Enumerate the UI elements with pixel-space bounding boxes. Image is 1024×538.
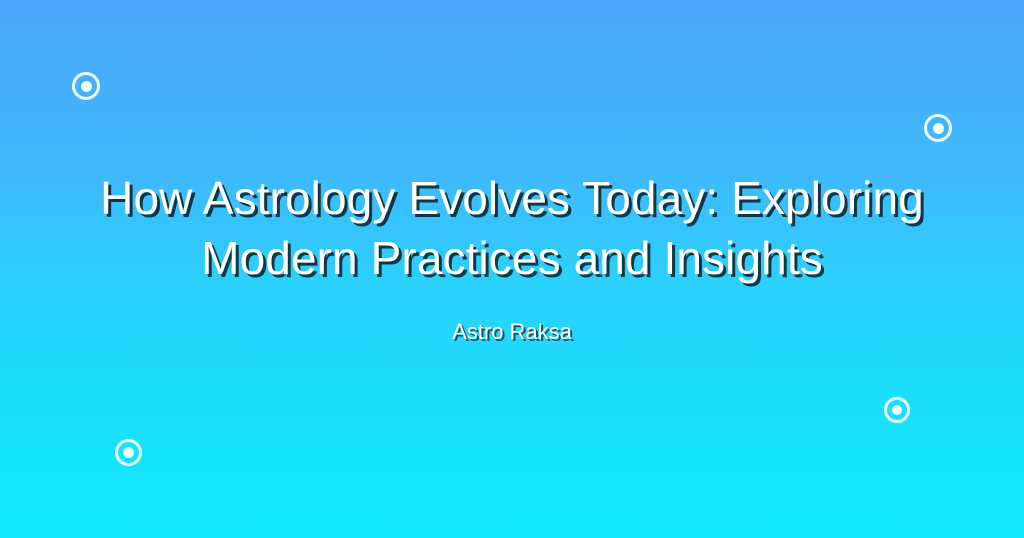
target-ring-icon-bottom-left — [115, 439, 142, 466]
ring-center-dot — [123, 447, 134, 458]
slide-title: How Astrology Evolves Today: Exploring M… — [72, 168, 952, 288]
title-slide: How Astrology Evolves Today: Exploring M… — [0, 0, 1024, 538]
ring-center-dot — [81, 81, 92, 92]
ring-center-dot — [933, 123, 944, 134]
ring-center-dot — [892, 405, 902, 415]
target-ring-icon-top-right — [924, 114, 952, 142]
slide-content: How Astrology Evolves Today: Exploring M… — [0, 168, 1024, 345]
slide-subtitle: Astro Raksa — [452, 319, 572, 345]
target-ring-icon-top-left — [72, 72, 100, 100]
target-ring-icon-bottom-right — [884, 397, 910, 423]
